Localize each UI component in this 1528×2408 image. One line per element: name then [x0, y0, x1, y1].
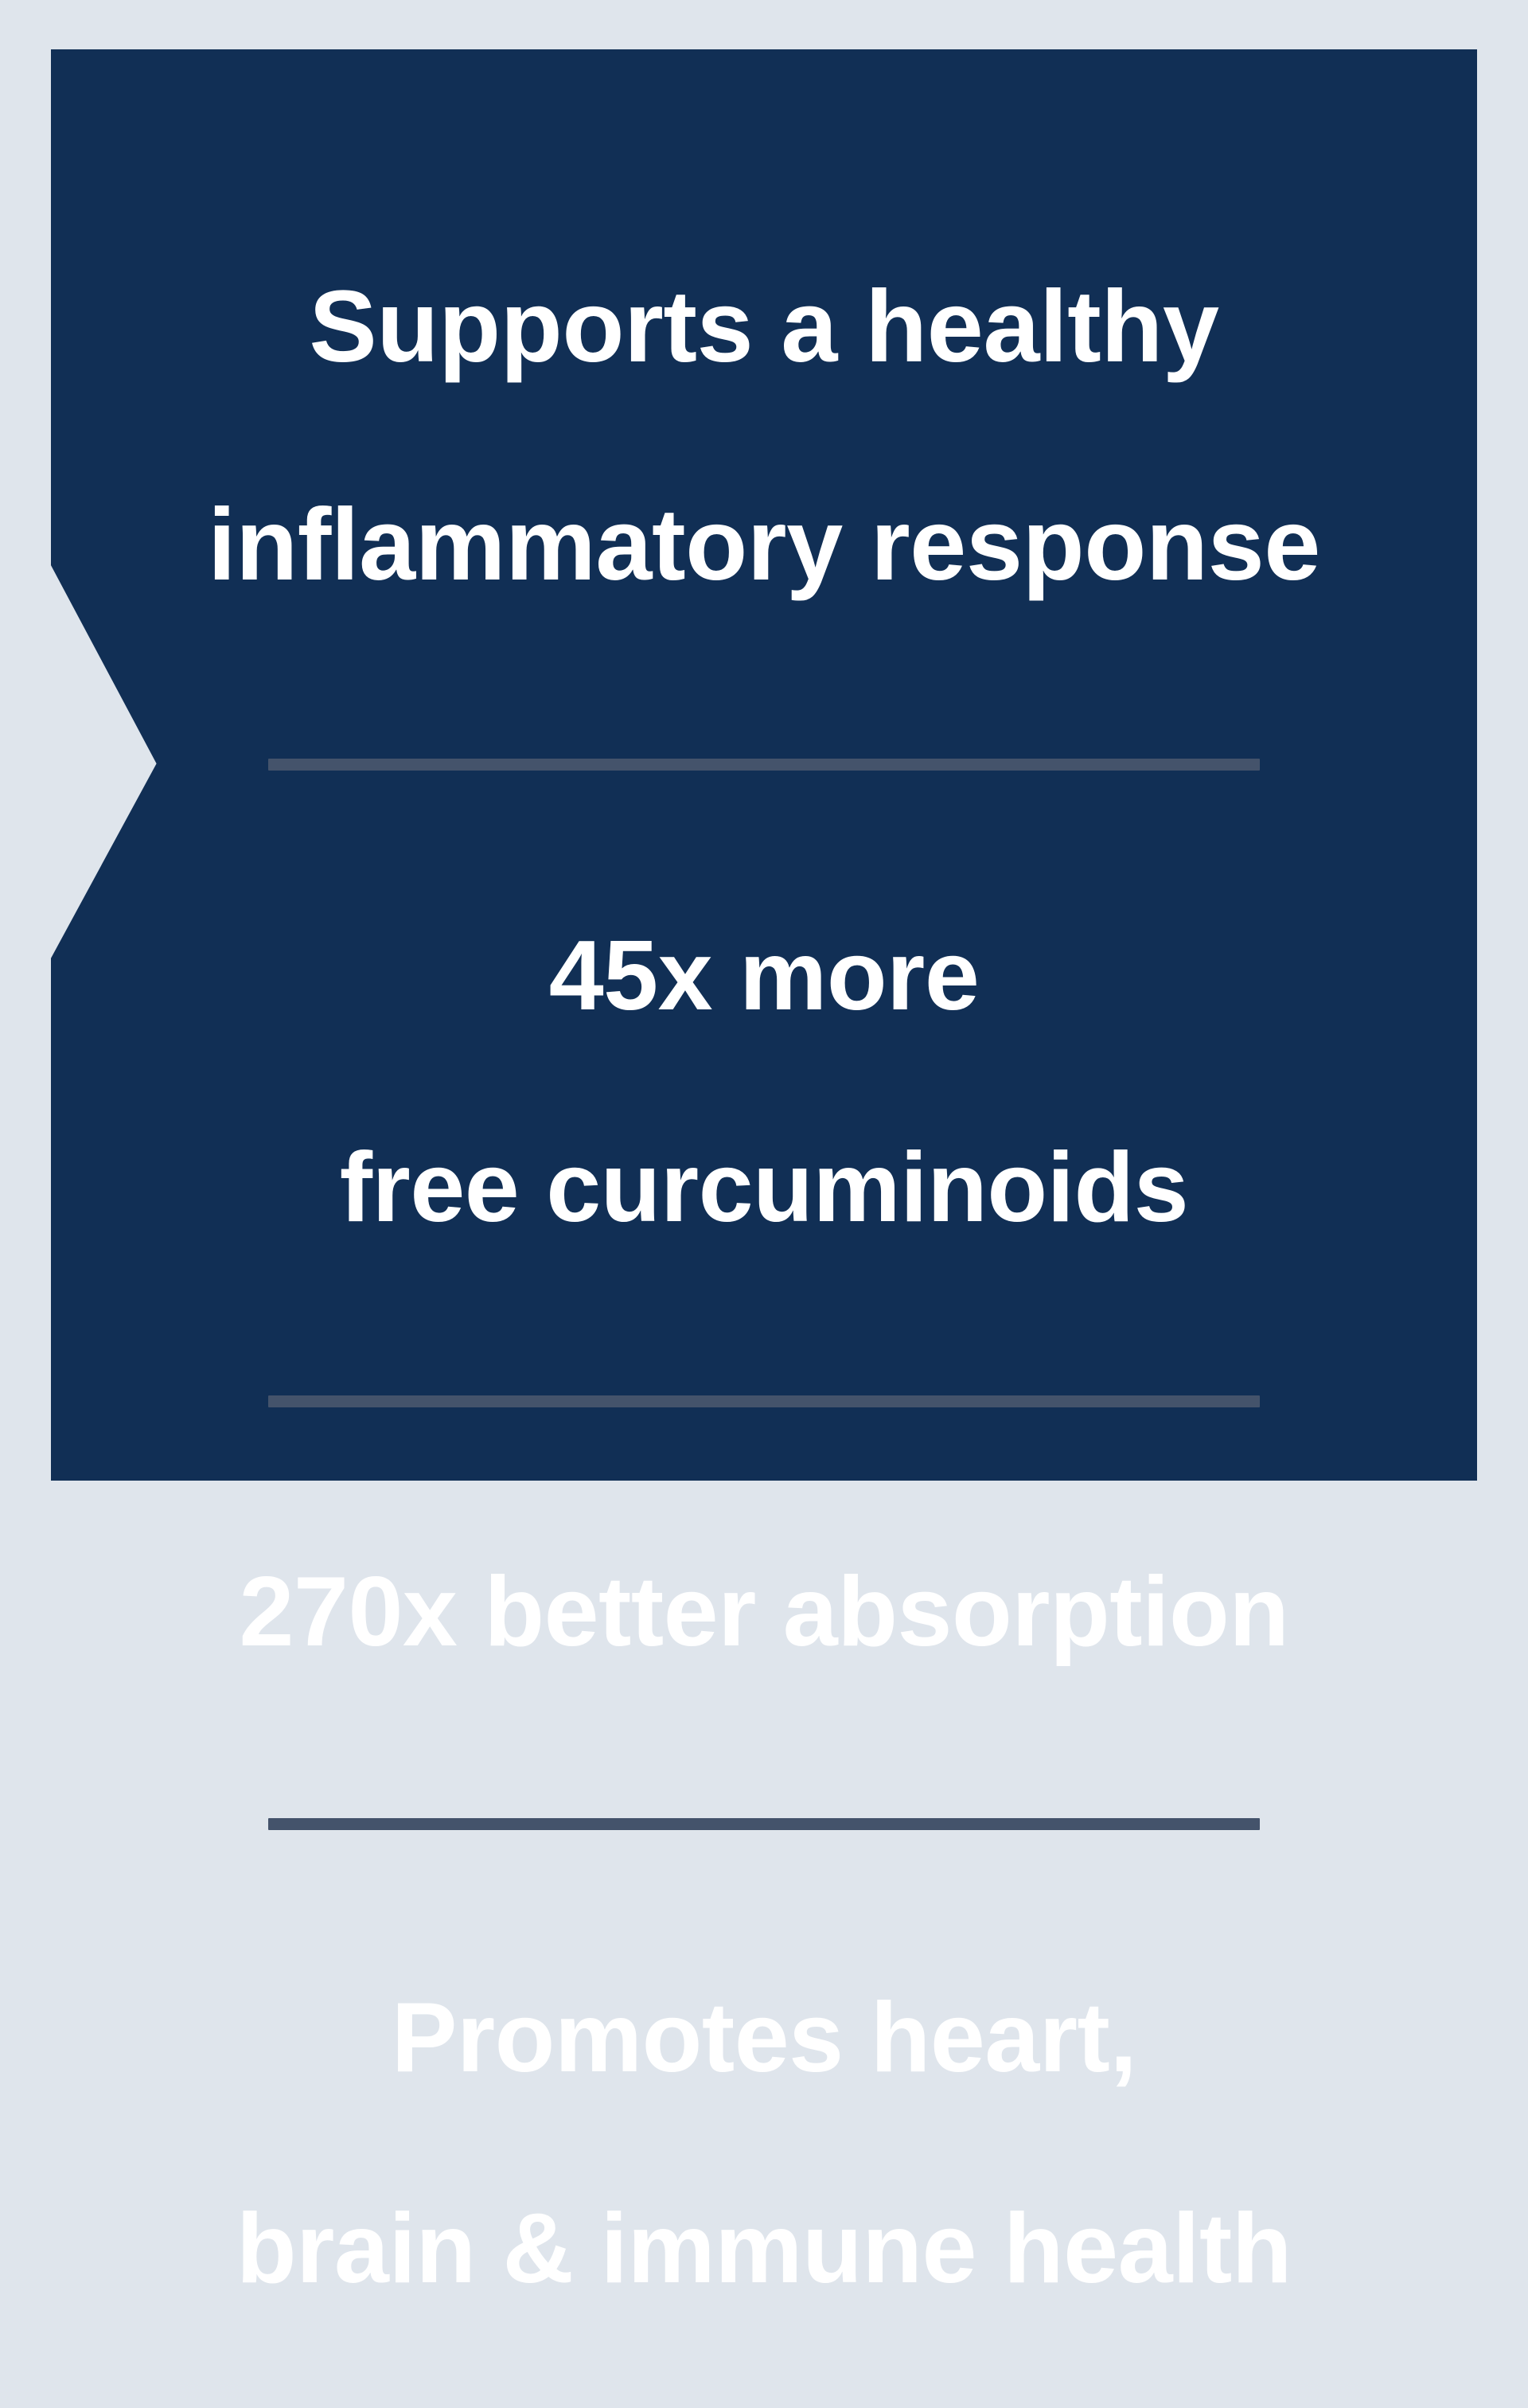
claim-free-curcuminoids: 45x more free curcuminoids [99, 818, 1429, 1346]
claim-3-line-1: 270x better absorption [99, 1559, 1429, 1665]
claim-4-line-2: brain & immune health [99, 2196, 1429, 2302]
divider-1 [268, 759, 1260, 771]
divider-2 [268, 1395, 1260, 1407]
claim-heart-brain-immune: Promotes heart, brain & immune health [99, 1879, 1429, 2407]
benefits-graphic: Supports a healthy inflammatory response… [0, 0, 1528, 1528]
claim-better-absorption: 270x better absorption [99, 1454, 1429, 1770]
claim-2-line-1: 45x more [99, 923, 1429, 1029]
divider-3 [268, 1818, 1260, 1830]
claim-1-line-2: inflammatory response [99, 491, 1429, 600]
claim-1-line-1: Supports a healthy [99, 273, 1429, 382]
claim-inflammatory-response: Supports a healthy inflammatory response [99, 164, 1429, 709]
claim-2-line-2: free curcuminoids [99, 1135, 1429, 1241]
claim-4-line-1: Promotes heart, [99, 1985, 1429, 2091]
claims-list: Supports a healthy inflammatory response… [51, 49, 1477, 1481]
